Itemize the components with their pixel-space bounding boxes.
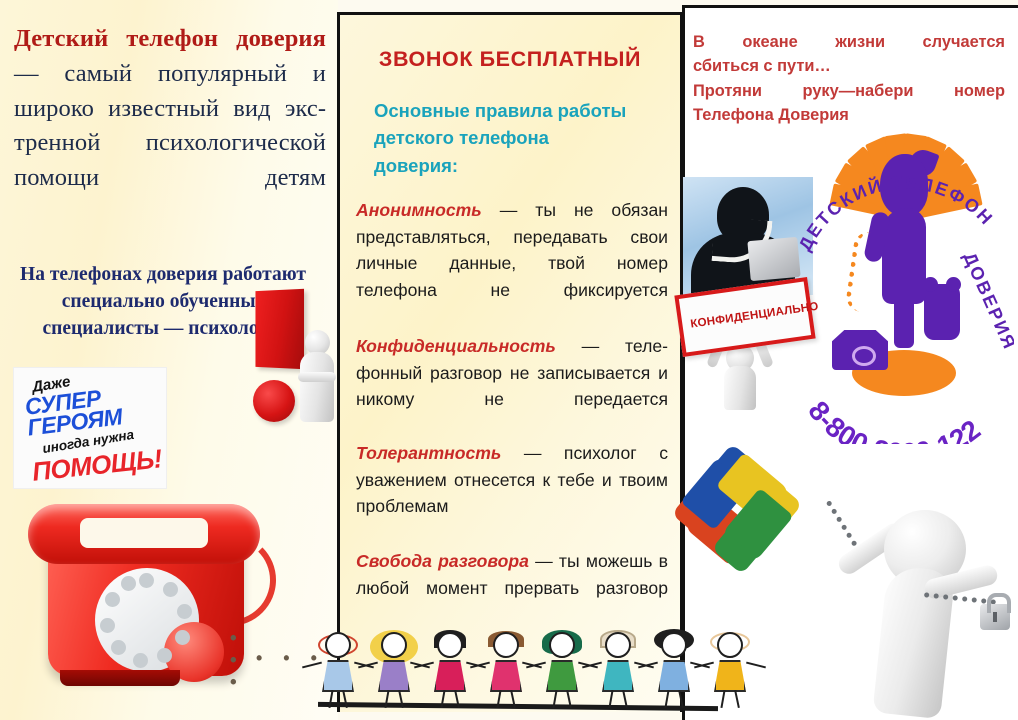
chain-left — [826, 500, 858, 547]
logo-phone-number: 8-800-2000-122 — [802, 395, 986, 444]
superhero-help-sticker: Даже СУПЕРГЕРОЯМ иногда нужна ПОМОЩЬ! — [14, 368, 166, 488]
figure-arms — [298, 372, 336, 382]
left-panel: Детский телефон доверия — самый популярн… — [0, 0, 338, 720]
logo-phone-number-path: 8-800-2000-122 — [802, 395, 986, 444]
desk-phone-icon — [747, 237, 800, 281]
logo-arc-label-2: ДОВЕРИЯ — [959, 249, 1014, 353]
red-rotary-telephone-icon: • • • — [18, 500, 268, 705]
padlock-icon — [980, 604, 1010, 630]
child-figure — [424, 632, 476, 706]
lead-rest: — самый популярный и широко известный ви… — [14, 60, 326, 191]
poem-line-2: сбиться с пути… — [693, 54, 1005, 78]
rule-term: Конфиденциальность — [356, 336, 556, 356]
center-title: ЗВОНОК БЕСПЛАТНЫЙ — [340, 47, 680, 72]
rule-term: Свобода разговора — [356, 551, 529, 571]
rule-tolerance: Толерантность — психолог с уважением отн… — [356, 440, 668, 520]
child-figure — [480, 632, 532, 706]
logo-phone-number-svg: 8-800-2000-122 — [796, 354, 1014, 444]
exclamation-dot — [253, 380, 295, 422]
figure-body — [724, 366, 756, 410]
child-figure — [648, 632, 700, 706]
lead-highlight: Детский телефон доверия — [14, 25, 326, 52]
poem-block: В океане жизни случается сбиться с пути…… — [693, 30, 1005, 127]
person-on-telephone-silhouette-photo — [683, 177, 813, 295]
child-figure — [536, 632, 588, 706]
figure-body — [300, 352, 334, 422]
center-panel: ЗВОНОК БЕСПЛАТНЫЙ Основные правила работ… — [337, 12, 683, 712]
poem-line-1: В океане жизни случается — [693, 30, 1005, 54]
rule-confidentiality: Конфиденциальность — теле­фонный разгово… — [356, 333, 668, 413]
children-holding-hands-row — [256, 630, 776, 720]
phone-foot — [60, 670, 180, 686]
3d-man-breaking-chains-icon — [828, 492, 1018, 720]
3d-figure-icon — [296, 330, 338, 422]
lead-paragraph: Детский телефон доверия — самый популярн… — [14, 22, 326, 196]
child-figure — [704, 632, 756, 706]
child-figure — [312, 632, 364, 706]
rule-term: Толерантность — [356, 443, 501, 463]
poem-line-3: Протяни руку—набери номер — [693, 79, 1005, 103]
poster-root: Детский телефон доверия — самый популярн… — [0, 0, 1018, 720]
helpline-logo: ДЕТСКИЙ ТЕЛЕФОН ДОВЕРИЯ 8-800-2000-122 — [796, 118, 1014, 448]
rule-term: Анонимность — [356, 200, 482, 220]
rule-freedom-of-conversation: Свобода разговора — ты можешь в любой мо… — [356, 548, 668, 601]
rule-anonymity: Анонимность — ты не обязан представлятьс… — [356, 197, 668, 304]
confidential-board: КОНФИДЕНЦИАЛЬНО — [674, 277, 815, 357]
phone-handset — [28, 504, 260, 564]
phone-dial — [95, 568, 199, 672]
center-intro: Основные правила работы детского телефон… — [374, 97, 634, 179]
logo-arc-text: ДЕТСКИЙ ТЕЛЕФОН ДОВЕРИЯ — [796, 118, 1014, 368]
logo-arc-label: ДЕТСКИЙ ТЕЛЕФОН — [796, 173, 998, 254]
red-exclamation-icon — [246, 288, 338, 423]
logo-arc-textpath: ДЕТСКИЙ ТЕЛЕФОН — [796, 173, 998, 254]
four-hands-circle-icon — [666, 438, 808, 580]
child-figure — [368, 632, 420, 706]
child-figure — [592, 632, 644, 706]
